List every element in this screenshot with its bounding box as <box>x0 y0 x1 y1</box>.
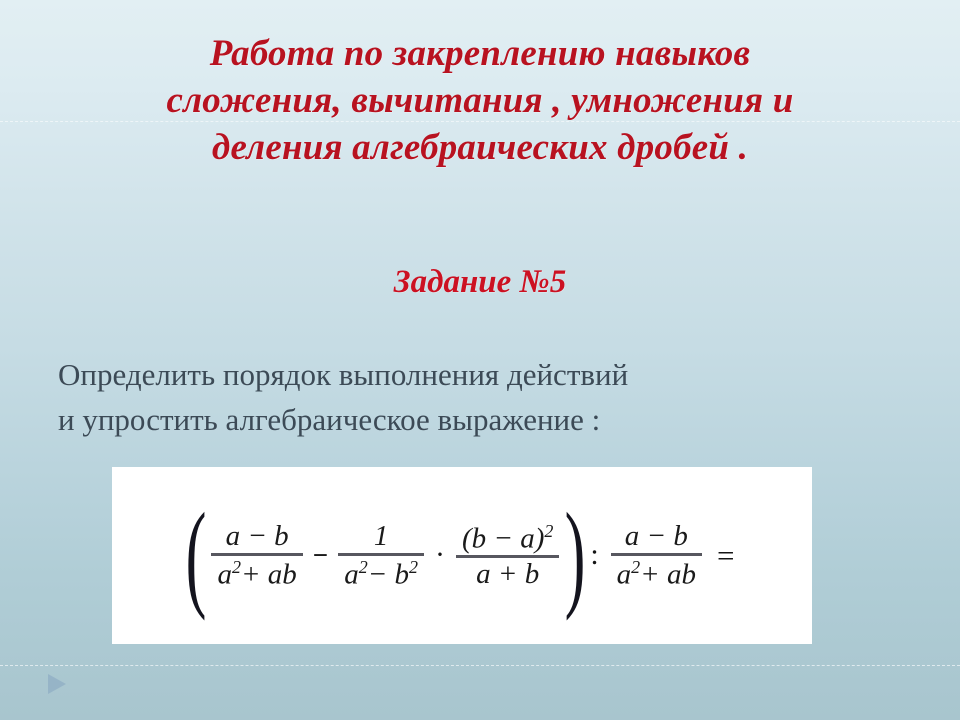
formula-image-panel: ( a − b a2+ ab − 1 a2− b2 · (b − a)2 a +… <box>112 467 812 644</box>
fraction-2-numerator: 1 <box>368 520 395 553</box>
fraction-2: 1 a2− b2 <box>338 520 424 592</box>
title-line-2: сложения, вычитания , умножения и <box>60 77 900 124</box>
fraction-4: a − b a2+ ab <box>611 520 702 592</box>
fraction-1-denominator: a2+ ab <box>211 556 302 592</box>
slide-title: Работа по закреплению навыков сложения, … <box>60 30 900 171</box>
operator-multiply: · <box>435 540 445 570</box>
fraction-1: a − b a2+ ab <box>211 520 302 592</box>
fraction-1-numerator: a − b <box>220 520 295 553</box>
instruction-line-2: и упростить алгебраическое выражение : <box>58 397 838 442</box>
title-line-3: деления алгебраических дробей . <box>60 124 900 171</box>
decorative-rule-bottom <box>0 665 960 666</box>
algebraic-expression: ( a − b a2+ ab − 1 a2− b2 · (b − a)2 a +… <box>177 512 748 598</box>
instruction-text: Определить порядок выполнения действий и… <box>58 352 838 442</box>
close-paren: ) <box>565 512 586 598</box>
fraction-4-numerator: a − b <box>619 520 694 553</box>
fraction-2-denominator: a2− b2 <box>338 556 424 592</box>
fraction-3-numerator: (b − a)2 <box>456 520 559 556</box>
presentation-slide: Работа по закреплению навыков сложения, … <box>0 0 960 720</box>
fraction-3: (b − a)2 a + b <box>456 520 559 592</box>
fraction-4-denominator: a2+ ab <box>611 556 702 592</box>
fraction-3-denominator: a + b <box>470 558 545 591</box>
operator-divide: : <box>590 540 598 570</box>
play-triangle-icon[interactable] <box>48 674 66 694</box>
task-number-heading: Задание №5 <box>60 262 900 302</box>
title-line-1: Работа по закреплению навыков <box>60 30 900 77</box>
operator-minus: − <box>313 542 328 569</box>
operator-equals: = <box>717 540 734 571</box>
open-paren: ( <box>185 512 206 598</box>
instruction-line-1: Определить порядок выполнения действий <box>58 352 838 397</box>
